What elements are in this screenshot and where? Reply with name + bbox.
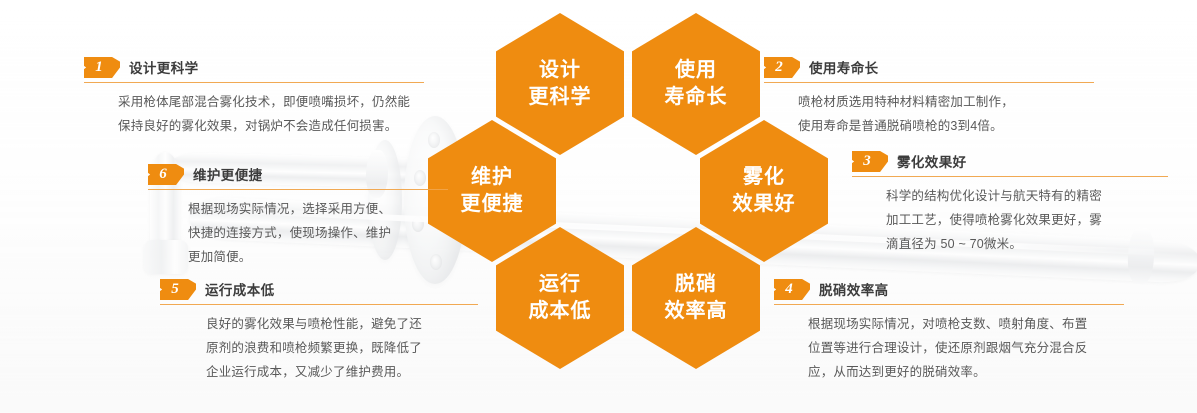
feature-cost-title: 运行成本低 [205, 279, 275, 300]
hexagon-efficiency-line1: 脱硝 [675, 271, 717, 298]
hexagon-cost[interactable]: 运行 成本低 [496, 227, 624, 369]
feature-design-line: 保持良好的雾化效果，对锅炉不会造成任何损害。 [118, 114, 424, 138]
feature-cost-line: 企业运行成本，又减少了维护费用。 [206, 360, 478, 384]
feature-number-badge-1: 1 [84, 57, 120, 78]
feature-lifespan-title: 使用寿命长 [809, 57, 879, 78]
hexagon-cost-line1: 运行 [539, 271, 581, 298]
feature-lifespan[interactable]: 2 使用寿命长 喷枪材质选用特种材料精密加工制作， 使用寿命是普通脱硝喷枪的3到… [764, 56, 1094, 138]
feature-efficiency[interactable]: 4 脱硝效率高 根据现场实际情况，对喷枪支数、喷射角度、布置 位置等进行合理设计… [774, 278, 1124, 384]
feature-atomization-header: 3 雾化效果好 [852, 150, 1168, 172]
hexagon-efficiency[interactable]: 脱硝 效率高 [632, 227, 760, 369]
feature-efficiency-line: 位置等进行合理设计，使还原剂跟烟气充分混合反 [808, 336, 1124, 360]
hexagon-maintenance-line2: 更便捷 [461, 191, 524, 218]
feature-efficiency-divider [774, 304, 1124, 305]
feature-lifespan-header: 2 使用寿命长 [764, 56, 1094, 78]
feature-design-header: 1 设计更科学 [84, 56, 424, 78]
feature-cost-header: 5 运行成本低 [160, 278, 478, 300]
feature-efficiency-title: 脱硝效率高 [819, 279, 889, 300]
feature-maintenance[interactable]: 6 维护更便捷 根据现场实际情况，选择采用方便、 快捷的连接方式，使现场操作、维… [148, 163, 448, 269]
hexagon-design[interactable]: 设计 更科学 [496, 13, 624, 155]
feature-efficiency-line: 应，从而达到更好的脱硝效率。 [808, 360, 1124, 384]
feature-lifespan-line: 使用寿命是普通脱硝喷枪的3到4倍。 [798, 114, 1094, 138]
feature-efficiency-body: 根据现场实际情况，对喷枪支数、喷射角度、布置 位置等进行合理设计，使还原剂跟烟气… [774, 312, 1124, 384]
feature-lifespan-body: 喷枪材质选用特种材料精密加工制作， 使用寿命是普通脱硝喷枪的3到4倍。 [764, 90, 1094, 138]
feature-maintenance-body: 根据现场实际情况，选择采用方便、 快捷的连接方式，使现场操作、维护 更加简便。 [148, 197, 448, 269]
feature-atomization-line: 科学的结构优化设计与航天特有的精密 [886, 184, 1168, 208]
feature-maintenance-divider [148, 189, 448, 190]
hexagon-efficiency-line2: 效率高 [665, 298, 728, 325]
feature-number-badge-4: 4 [774, 279, 810, 300]
feature-lifespan-divider [764, 82, 1094, 83]
hexagon-lifespan[interactable]: 使用 寿命长 [632, 13, 760, 155]
feature-number-badge-6: 6 [148, 164, 184, 185]
feature-cost-divider [160, 304, 478, 305]
feature-atomization-body: 科学的结构优化设计与航天特有的精密 加工工艺，使得喷枪雾化效果更好，雾 滴直径为… [852, 184, 1168, 256]
infographic-canvas: 设计 更科学 使用 寿命长 维护 更便捷 雾化 效果好 运行 成本低 脱硝 效率… [0, 0, 1197, 413]
hexagon-lifespan-line2: 寿命长 [665, 84, 728, 111]
hexagon-design-line1: 设计 [539, 57, 581, 84]
feature-atomization-line: 滴直径为 50 ~ 70微米。 [886, 232, 1168, 256]
feature-atomization-line: 加工工艺，使得喷枪雾化效果更好，雾 [886, 208, 1168, 232]
feature-maintenance-line: 更加简便。 [188, 245, 448, 269]
feature-maintenance-header: 6 维护更便捷 [148, 163, 448, 185]
feature-efficiency-line: 根据现场实际情况，对喷枪支数、喷射角度、布置 [808, 312, 1124, 336]
feature-design-title: 设计更科学 [129, 57, 199, 78]
feature-maintenance-line: 快捷的连接方式，使现场操作、维护 [188, 221, 448, 245]
feature-design[interactable]: 1 设计更科学 采用枪体尾部混合雾化技术，即便喷嘴损坏，仍然能 保持良好的雾化效… [84, 56, 424, 138]
hexagon-atomization-line1: 雾化 [743, 164, 785, 191]
feature-design-line: 采用枪体尾部混合雾化技术，即便喷嘴损坏，仍然能 [118, 90, 424, 114]
feature-cost[interactable]: 5 运行成本低 良好的雾化效果与喷枪性能，避免了还 原剂的浪费和喷枪频繁更换，既… [160, 278, 478, 384]
hexagon-cost-line2: 成本低 [529, 298, 592, 325]
feature-maintenance-line: 根据现场实际情况，选择采用方便、 [188, 197, 448, 221]
feature-atomization[interactable]: 3 雾化效果好 科学的结构优化设计与航天特有的精密 加工工艺，使得喷枪雾化效果更… [852, 150, 1168, 256]
feature-number-badge-5: 5 [160, 279, 196, 300]
feature-efficiency-header: 4 脱硝效率高 [774, 278, 1124, 300]
feature-cost-line: 良好的雾化效果与喷枪性能，避免了还 [206, 312, 478, 336]
hexagon-design-line2: 更科学 [529, 84, 592, 111]
feature-cost-body: 良好的雾化效果与喷枪性能，避免了还 原剂的浪费和喷枪频繁更换，既降低了 企业运行… [160, 312, 478, 384]
feature-atomization-divider [852, 176, 1168, 177]
feature-maintenance-title: 维护更便捷 [193, 164, 263, 185]
feature-atomization-title: 雾化效果好 [897, 151, 967, 172]
hexagon-lifespan-line1: 使用 [675, 57, 717, 84]
feature-design-body: 采用枪体尾部混合雾化技术，即便喷嘴损坏，仍然能 保持良好的雾化效果，对锅炉不会造… [84, 90, 424, 138]
feature-cost-line: 原剂的浪费和喷枪频繁更换，既降低了 [206, 336, 478, 360]
hexagon-atomization[interactable]: 雾化 效果好 [700, 120, 828, 262]
feature-design-divider [84, 82, 424, 83]
hexagon-atomization-line2: 效果好 [733, 191, 796, 218]
hexagon-maintenance-line1: 维护 [471, 164, 513, 191]
feature-lifespan-line: 喷枪材质选用特种材料精密加工制作， [798, 90, 1094, 114]
feature-number-badge-2: 2 [764, 57, 800, 78]
feature-number-badge-3: 3 [852, 151, 888, 172]
